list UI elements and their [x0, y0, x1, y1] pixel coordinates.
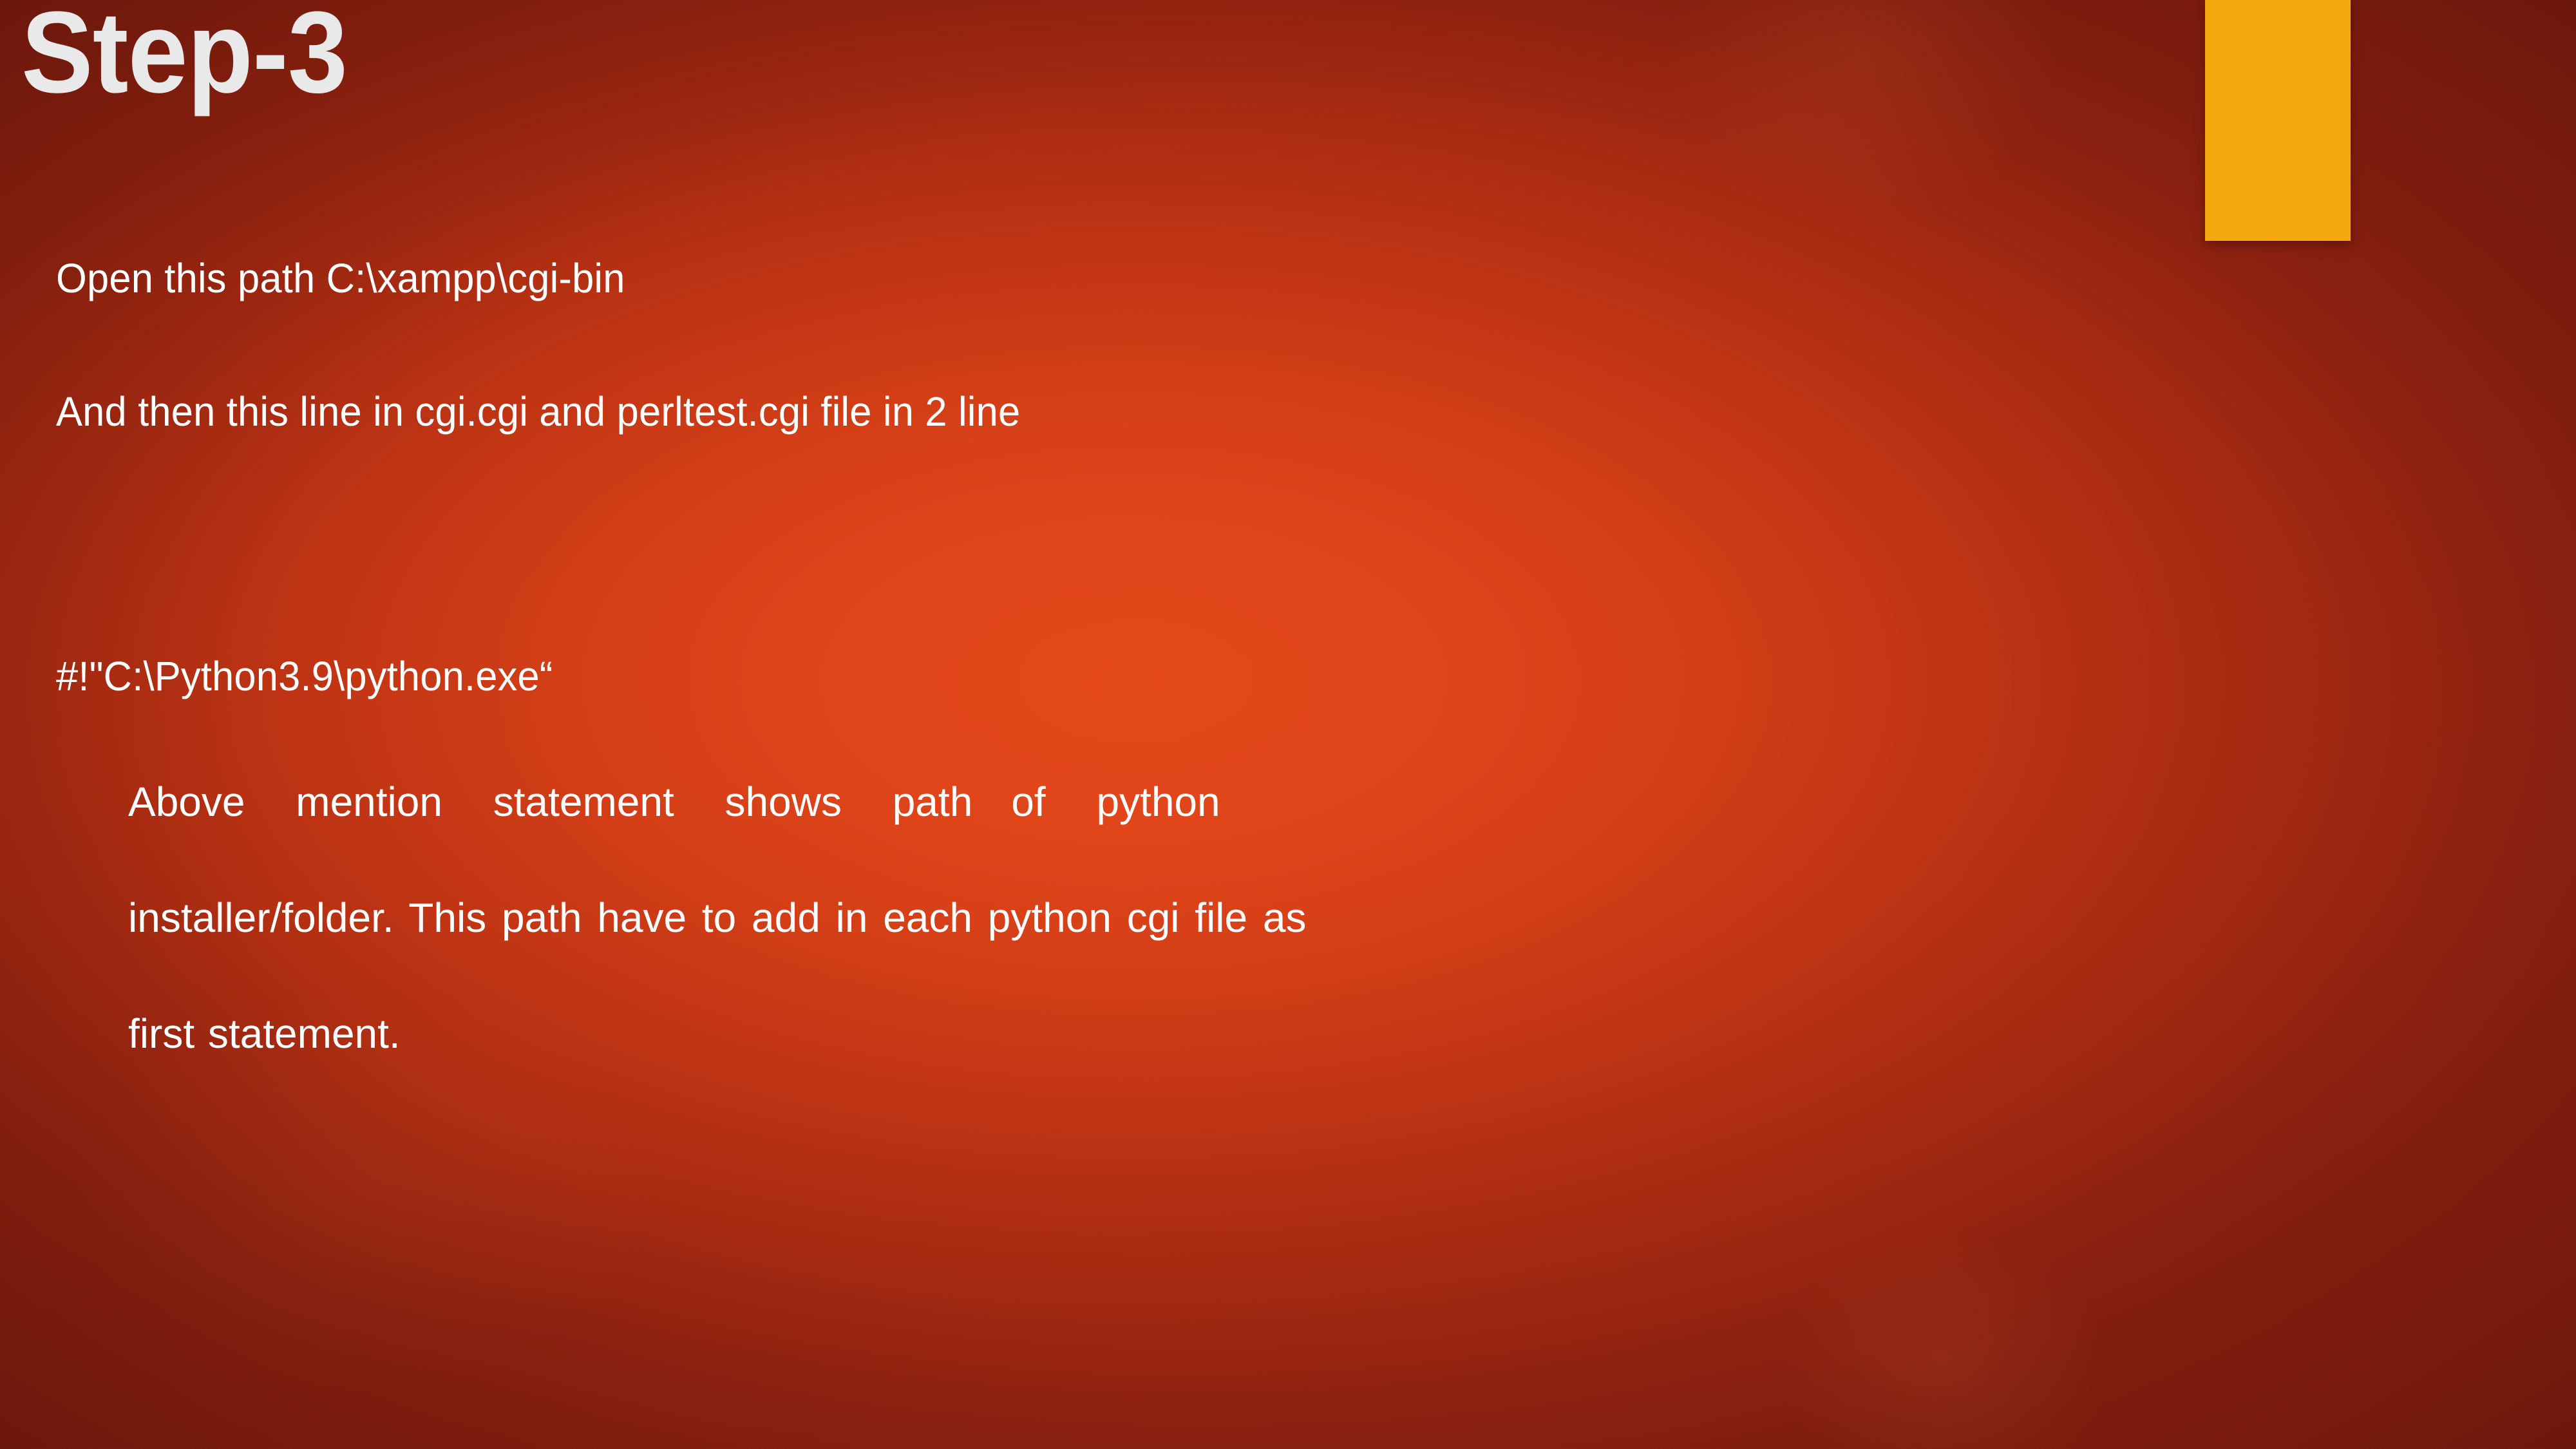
paragraph-line-1: Above mention statement shows pathof pyt… — [128, 781, 2103, 897]
presentation-slide: Step-3 Open this path C:\xampp\cgi-bin A… — [0, 0, 2576, 1449]
paragraph-line-3: first statement. — [128, 1013, 2103, 1129]
body-line-instruction: And then this line in cgi.cgi and perlte… — [56, 391, 1020, 432]
body-line-path: Open this path C:\xampp\cgi-bin — [56, 258, 625, 299]
slide-title: Step-3 — [21, 0, 347, 119]
body-paragraph: Above mention statement shows pathof pyt… — [128, 781, 2103, 1129]
accent-rectangle — [2205, 0, 2351, 241]
paragraph-line-1-part-a: Above mention statement shows path — [128, 779, 972, 825]
paragraph-line-1-part-b: of python — [1011, 779, 1220, 825]
slide-background-texture — [0, 0, 2576, 1449]
paragraph-line-2: installer/folder. This path have to add … — [128, 897, 2103, 1013]
body-line-shebang: #!"C:\Python3.9\python.exe“ — [56, 656, 553, 697]
